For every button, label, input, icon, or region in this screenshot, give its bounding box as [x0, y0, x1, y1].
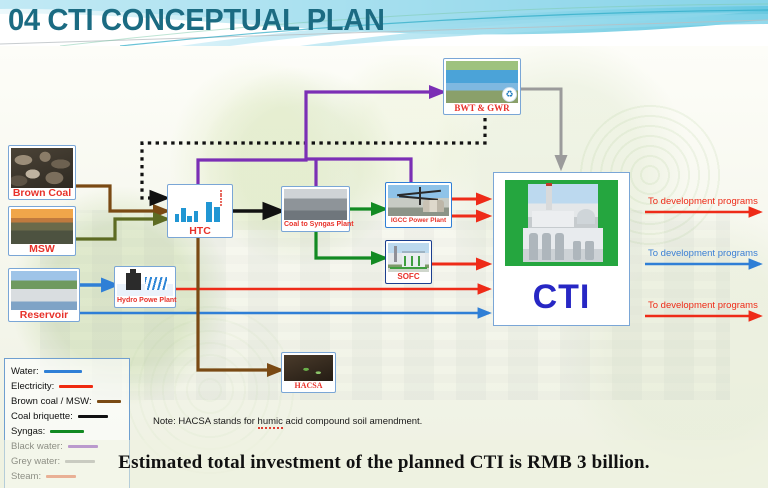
- legend-item: Electricity:: [11, 379, 124, 394]
- node-igcc-power-plant[interactable]: IGCC Power Plant: [385, 182, 452, 228]
- legend-swatch-brown-coal-msw: [97, 400, 121, 403]
- brown-coal-image: [11, 148, 73, 188]
- output-label-1: To development programs: [648, 196, 758, 207]
- coal-to-syngas-image: [284, 189, 347, 220]
- node-coal-to-syngas-plant[interactable]: Coal to Syngas Plant: [281, 186, 350, 232]
- node-label: MSW: [11, 244, 73, 254]
- recycle-icon: ♻: [502, 87, 517, 102]
- cti-green-panel: [505, 180, 618, 266]
- cooling-tower-shape: [423, 200, 444, 212]
- node-label: HACSA: [284, 381, 333, 391]
- note-suffix: acid compound soil amendment.: [283, 416, 422, 427]
- note-text: Note: HACSA stands for humic acid compou…: [153, 416, 422, 427]
- legend-swatch-syngas: [50, 430, 84, 433]
- htc-image: [170, 187, 230, 226]
- node-hacsa[interactable]: HACSA: [281, 352, 336, 393]
- slide-canvas: 04 CTI CONCEPTUAL PLAN: [0, 0, 768, 488]
- investment-statement: Estimated total investment of the planne…: [0, 452, 768, 474]
- node-sofc[interactable]: SOFC: [385, 240, 432, 284]
- legend-label: Syngas:: [11, 426, 45, 437]
- igcc-power-plant-image: [388, 185, 449, 216]
- node-bwt-gwr[interactable]: ♻ BWT & GWR: [443, 58, 521, 115]
- hydro-power-plant-image: [117, 269, 173, 296]
- cti-plant-image: [528, 184, 598, 230]
- output-label-3: To development programs: [648, 300, 758, 311]
- output-label-2: To development programs: [648, 248, 758, 259]
- sofc-image: [388, 243, 429, 272]
- bwt-gwr-image: ♻: [446, 61, 518, 103]
- wire-igcc-to-bwt-blackwater: [306, 159, 411, 182]
- cti-label: CTI: [533, 278, 591, 317]
- wire-bwt-to-cti-greywater: [521, 89, 561, 168]
- node-label: HTC: [170, 226, 230, 236]
- node-label: BWT & GWR: [446, 103, 518, 113]
- hacsa-image: [284, 355, 333, 381]
- node-label: Hydro Powe Plant: [117, 296, 173, 306]
- legend-item: Water:: [11, 364, 124, 379]
- reservoir-image: [11, 271, 77, 310]
- wire-htc-to-bwt-blackwater: [198, 92, 443, 184]
- wire-msw-to-htc: [75, 219, 167, 239]
- water-flow-shape: [145, 277, 167, 289]
- node-label: Coal to Syngas Plant: [284, 220, 347, 230]
- node-cti[interactable]: CTI: [493, 172, 630, 326]
- legend-swatch-water: [44, 370, 82, 373]
- node-label: SOFC: [388, 272, 429, 282]
- wire-htc-to-hacsa: [198, 238, 281, 370]
- note-prefix: Note: HACSA stands for: [153, 416, 258, 427]
- node-label: IGCC Power Plant: [388, 216, 449, 226]
- cti-stack-shape: [546, 186, 552, 210]
- cti-building-shape: [532, 211, 574, 228]
- node-label: Reservoir: [11, 310, 77, 320]
- legend-swatch-coal-briquette: [78, 415, 108, 418]
- wire-syngas-to-sofc: [316, 232, 385, 258]
- plant-building-shape: [126, 273, 141, 290]
- node-label: Brown Coal: [11, 188, 73, 198]
- legend-label: Electricity:: [11, 381, 54, 392]
- msw-image: [11, 209, 73, 244]
- sofc-grid-shape: [404, 256, 424, 266]
- sofc-green-line: [390, 267, 426, 269]
- legend-item: Brown coal / MSW:: [11, 394, 124, 409]
- note-underlined-word: humic: [258, 416, 283, 429]
- stack-shape: [394, 246, 397, 262]
- legend-label: Coal briquette:: [11, 411, 73, 422]
- cti-dome-shape: [577, 209, 595, 225]
- node-htc[interactable]: HTC: [167, 184, 233, 238]
- htc-dot-column: [218, 189, 224, 209]
- legend-item: Syngas:: [11, 424, 124, 439]
- legend-item: Coal briquette:: [11, 409, 124, 424]
- node-reservoir[interactable]: Reservoir: [8, 268, 80, 322]
- legend-label: Water:: [11, 366, 39, 377]
- wire-brown-coal-to-htc: [75, 186, 167, 211]
- cti-tanks-image: [523, 228, 603, 262]
- node-hydro-power-plant[interactable]: Hydro Powe Plant: [114, 266, 176, 308]
- legend-swatch-electricity: [59, 385, 93, 388]
- node-msw[interactable]: MSW: [8, 206, 76, 256]
- node-brown-coal[interactable]: Brown Coal: [8, 145, 76, 200]
- legend-label: Brown coal / MSW:: [11, 396, 92, 407]
